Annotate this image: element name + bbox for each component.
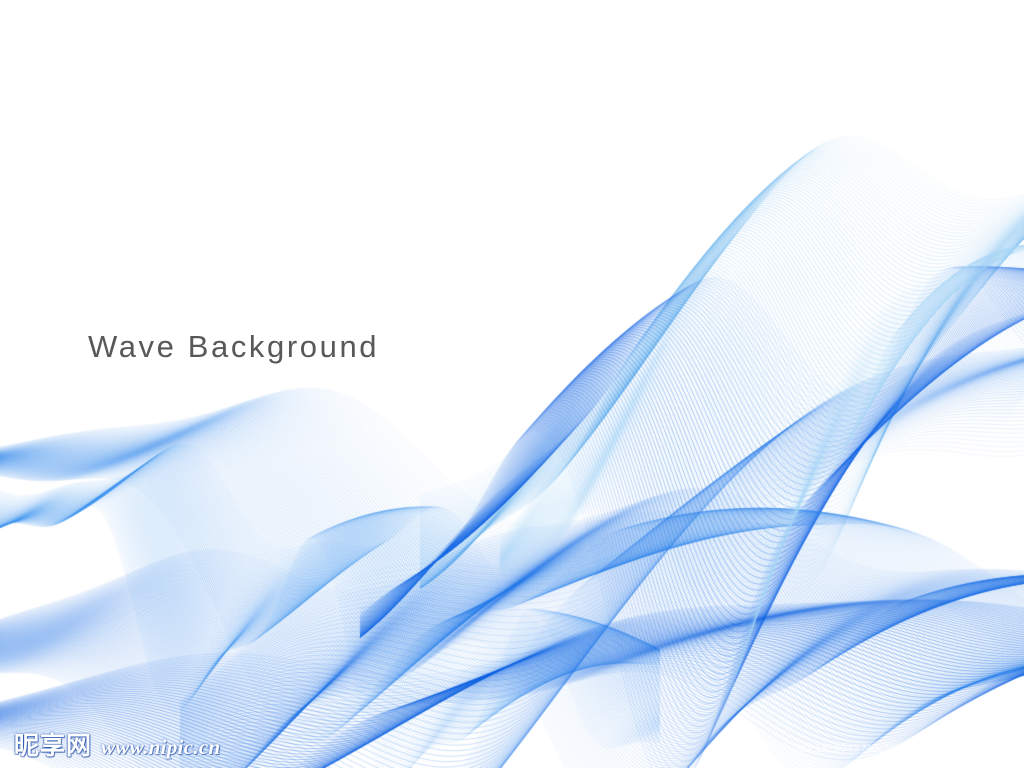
page-title: Wave Background [88, 329, 379, 365]
wave-artwork-canvas [0, 0, 1024, 768]
artwork-stage: Wave Background 昵享网 www.nipic.cn ID:1529… [0, 0, 1024, 768]
